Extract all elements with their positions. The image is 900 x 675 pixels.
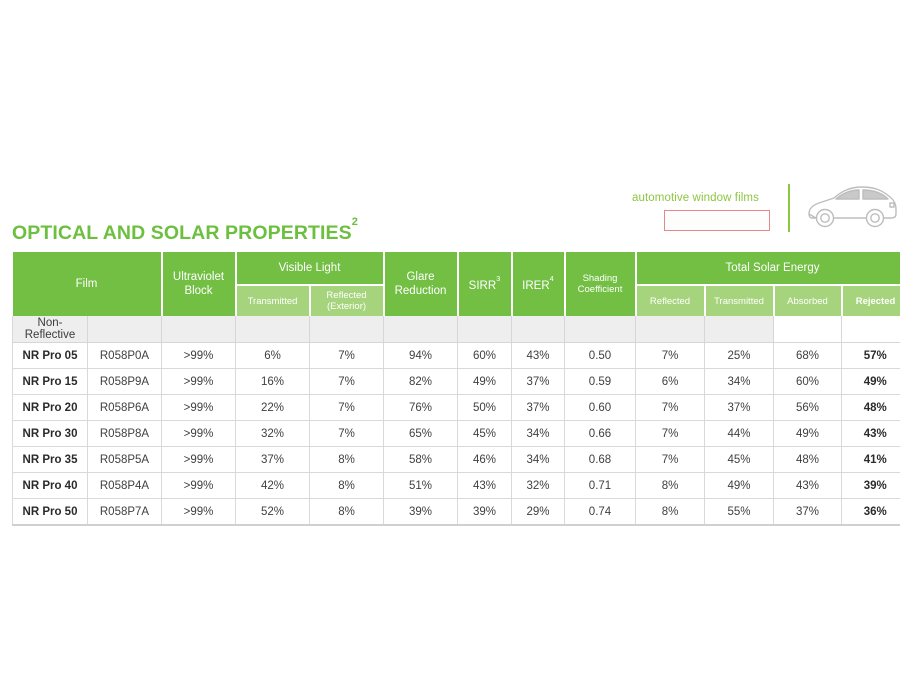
column-visible-light-transmitted: Transmitted [236,285,310,316]
cell-film-code: R058P6A [88,395,162,421]
cell-film-code: R058P0A [88,343,162,369]
cell-film-code: R058P7A [88,499,162,526]
cell-glare-reduction: 39% [384,499,458,526]
page-title-footnote-marker: 2 [352,216,358,228]
cell-irer: 37% [512,395,565,421]
column-tse-absorbed: Absorbed [774,285,842,316]
cell-vl-transmitted: 37% [236,447,310,473]
cell-sirr: 49% [458,369,512,395]
cell-film-name: NR Pro 05 [13,343,88,369]
cell-vl-transmitted: 6% [236,343,310,369]
cell-tse-rejected: 43% [842,421,900,447]
optical-solar-properties-table-wrapper: Film Ultraviolet Block Visible Light Gla… [12,252,888,526]
brand-text-group: automotive window films [632,176,772,231]
group-row-blank-cell [512,316,565,343]
cell-tse-reflected: 7% [636,447,705,473]
cell-vl-reflected: 8% [310,473,384,499]
cell-uv-block: >99% [162,343,236,369]
cell-sirr: 60% [458,343,512,369]
cell-shading-coefficient: 0.50 [565,343,636,369]
cell-film-code: R058P9A [88,369,162,395]
cell-irer: 34% [512,421,565,447]
cell-shading-coefficient: 0.74 [565,499,636,526]
table-group-row-non-reflective: Non-Reflective [13,316,900,343]
cell-vl-reflected: 8% [310,447,384,473]
cell-tse-rejected: 49% [842,369,900,395]
table-header-group-row: Film Ultraviolet Block Visible Light Gla… [13,252,900,285]
cell-tse-reflected: 8% [636,473,705,499]
cell-film-code: R058P5A [88,447,162,473]
broken-image-placeholder-icon [664,210,770,231]
group-row-blank-cell [705,316,774,343]
cell-shading-coefficient: 0.59 [565,369,636,395]
table-row: NR Pro 15 R058P9A >99% 16% 7% 82% 49% 37… [13,369,900,395]
cell-glare-reduction: 94% [384,343,458,369]
cell-film-name: NR Pro 15 [13,369,88,395]
cell-tse-reflected: 6% [636,369,705,395]
cell-glare-reduction: 51% [384,473,458,499]
cell-uv-block: >99% [162,421,236,447]
cell-vl-reflected: 8% [310,499,384,526]
cell-uv-block: >99% [162,473,236,499]
cell-film-name: NR Pro 20 [13,395,88,421]
cell-shading-coefficient: 0.60 [565,395,636,421]
cell-tse-rejected: 36% [842,499,900,526]
table-row: NR Pro 35 R058P5A >99% 37% 8% 58% 46% 34… [13,447,900,473]
cell-uv-block: >99% [162,499,236,526]
cell-sirr: 45% [458,421,512,447]
cell-vl-transmitted: 32% [236,421,310,447]
group-row-blank-cell [310,316,384,343]
vertical-divider [788,184,790,232]
irer-footnote-marker: 4 [550,274,554,283]
column-visible-light-reflected: Reflected (Exterior) [310,285,384,316]
sirr-footnote-marker: 3 [496,274,500,283]
cell-tse-transmitted: 34% [705,369,774,395]
column-group-shading-coefficient: Shading Coefficient [565,252,636,316]
cell-uv-block: >99% [162,395,236,421]
column-tse-transmitted: Transmitted [705,285,774,316]
group-row-blank-cell [774,316,842,343]
cell-tse-absorbed: 48% [774,447,842,473]
cell-tse-transmitted: 44% [705,421,774,447]
group-row-blank-cell [458,316,512,343]
optical-solar-properties-table: Film Ultraviolet Block Visible Light Gla… [12,252,900,526]
cell-tse-rejected: 57% [842,343,900,369]
group-row-label: Non-Reflective [13,316,88,343]
cell-tse-transmitted: 55% [705,499,774,526]
cell-tse-transmitted: 37% [705,395,774,421]
group-row-blank-cell [565,316,636,343]
cell-tse-rejected: 39% [842,473,900,499]
cell-film-code: R058P4A [88,473,162,499]
cell-irer: 29% [512,499,565,526]
cell-sirr: 46% [458,447,512,473]
cell-film-name: NR Pro 30 [13,421,88,447]
cell-uv-block: >99% [162,447,236,473]
cell-irer: 37% [512,369,565,395]
cell-vl-transmitted: 42% [236,473,310,499]
column-group-sirr: SIRR3 [458,252,512,316]
cell-film-name: NR Pro 40 [13,473,88,499]
cell-tse-absorbed: 43% [774,473,842,499]
cell-tse-reflected: 7% [636,395,705,421]
column-tse-rejected: Rejected [842,285,900,316]
table-row: NR Pro 40 R058P4A >99% 42% 8% 51% 43% 32… [13,473,900,499]
cell-film-name: NR Pro 50 [13,499,88,526]
group-row-blank-cell [88,316,162,343]
column-group-film: Film [13,252,162,316]
table-row: NR Pro 05 R058P0A >99% 6% 7% 94% 60% 43%… [13,343,900,369]
car-side-illustration-icon [804,178,900,232]
group-row-blank-cell [842,316,900,343]
cell-irer: 32% [512,473,565,499]
column-group-irer: IRER4 [512,252,565,316]
column-tse-reflected: Reflected [636,285,705,316]
column-group-sirr-label: SIRR [469,280,496,292]
page-title-text: OPTICAL AND SOLAR PROPERTIES [12,222,352,244]
column-group-ultraviolet-block: Ultraviolet Block [162,252,236,316]
cell-irer: 34% [512,447,565,473]
table-header: Film Ultraviolet Block Visible Light Gla… [13,252,900,316]
cell-tse-rejected: 48% [842,395,900,421]
group-row-blank-cell [236,316,310,343]
brand-tagline: automotive window films [632,192,772,205]
cell-tse-absorbed: 68% [774,343,842,369]
cell-vl-transmitted: 52% [236,499,310,526]
cell-sirr: 50% [458,395,512,421]
column-group-total-solar-energy: Total Solar Energy [636,252,900,285]
table-row: NR Pro 50 R058P7A >99% 52% 8% 39% 39% 29… [13,499,900,526]
cell-tse-reflected: 7% [636,343,705,369]
table-row: NR Pro 30 R058P8A >99% 32% 7% 65% 45% 34… [13,421,900,447]
cell-tse-transmitted: 25% [705,343,774,369]
cell-glare-reduction: 76% [384,395,458,421]
cell-film-name: NR Pro 35 [13,447,88,473]
table-body: Non-Reflective NR Pro 05 R058P0A >99% 6%… [13,316,900,525]
cell-vl-transmitted: 16% [236,369,310,395]
table-row: NR Pro 20 R058P6A >99% 22% 7% 76% 50% 37… [13,395,900,421]
cell-tse-transmitted: 49% [705,473,774,499]
cell-tse-rejected: 41% [842,447,900,473]
cell-irer: 43% [512,343,565,369]
cell-sirr: 43% [458,473,512,499]
cell-tse-reflected: 8% [636,499,705,526]
page-title: OPTICAL AND SOLAR PROPERTIES2 [12,222,358,245]
cell-shading-coefficient: 0.68 [565,447,636,473]
cell-tse-transmitted: 45% [705,447,774,473]
group-row-blank-cell [384,316,458,343]
cell-glare-reduction: 82% [384,369,458,395]
cell-uv-block: >99% [162,369,236,395]
cell-vl-reflected: 7% [310,395,384,421]
cell-tse-absorbed: 60% [774,369,842,395]
cell-shading-coefficient: 0.71 [565,473,636,499]
cell-vl-reflected: 7% [310,343,384,369]
column-group-visible-light: Visible Light [236,252,384,285]
brand-block: automotive window films [632,176,900,238]
group-row-blank-cell [162,316,236,343]
column-group-irer-label: IRER [522,280,549,292]
column-group-glare-reduction: Glare Reduction [384,252,458,316]
cell-tse-absorbed: 37% [774,499,842,526]
cell-film-code: R058P8A [88,421,162,447]
cell-vl-reflected: 7% [310,369,384,395]
group-row-blank-cell [636,316,705,343]
cell-shading-coefficient: 0.66 [565,421,636,447]
cell-sirr: 39% [458,499,512,526]
cell-tse-absorbed: 49% [774,421,842,447]
cell-glare-reduction: 65% [384,421,458,447]
cell-tse-reflected: 7% [636,421,705,447]
cell-tse-absorbed: 56% [774,395,842,421]
cell-vl-transmitted: 22% [236,395,310,421]
cell-glare-reduction: 58% [384,447,458,473]
cell-vl-reflected: 7% [310,421,384,447]
